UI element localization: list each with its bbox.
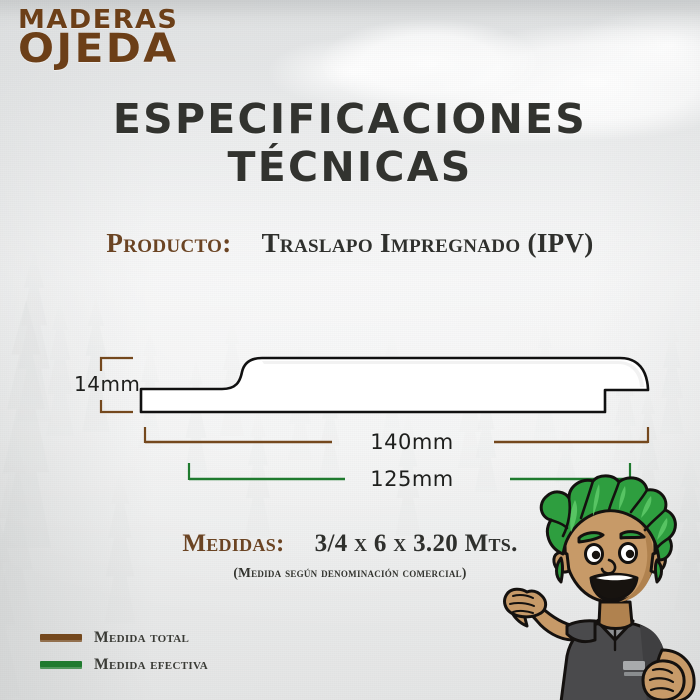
measurements-value: 3/4 x 6 x 3.20 Mts. xyxy=(315,530,518,557)
efectiva-swatch xyxy=(40,661,82,669)
mascot-eyebrow-right xyxy=(621,532,644,538)
brand-logo-line2: OJEDA xyxy=(18,30,181,68)
legend: Medida total Medida efectiva xyxy=(40,628,208,682)
thickness-label: 14mm xyxy=(74,372,140,396)
page-title-line2: TÉCNICAS xyxy=(0,143,700,191)
page-title: ESPECIFICACIONES TÉCNICAS xyxy=(0,95,700,192)
thickness-dimension: 14mm xyxy=(74,358,140,412)
page-title-line1: ESPECIFICACIONES xyxy=(0,95,700,143)
total-swatch xyxy=(40,634,82,642)
brand-logo: MADERAS OJEDA xyxy=(18,8,172,68)
mascot-neck xyxy=(599,602,632,629)
effective-width-label: 125mm xyxy=(370,467,454,491)
legend-label-efectiva: Medida efectiva xyxy=(94,656,208,674)
legend-item-total: Medida total xyxy=(40,628,208,648)
product-value: Traslapo Impregnado (IPV) xyxy=(262,228,594,258)
mascot-shirt-logo xyxy=(623,661,645,676)
legend-item-efectiva: Medida efectiva xyxy=(40,655,208,675)
legend-label-total: Medida total xyxy=(94,629,189,647)
total-width-label: 140mm xyxy=(370,430,454,454)
profile-outline xyxy=(141,358,648,412)
specification-sheet: MADERAS OJEDA ESPECIFICACIONES TÉCNICAS … xyxy=(0,0,700,700)
product-row: Producto: Traslapo Impregnado (IPV) xyxy=(0,228,700,259)
product-label: Producto: xyxy=(106,228,231,258)
measurements-label: Medidas: xyxy=(182,530,284,557)
mascot-illustration xyxy=(497,474,700,700)
total-width-dimension: 140mm xyxy=(145,427,648,454)
